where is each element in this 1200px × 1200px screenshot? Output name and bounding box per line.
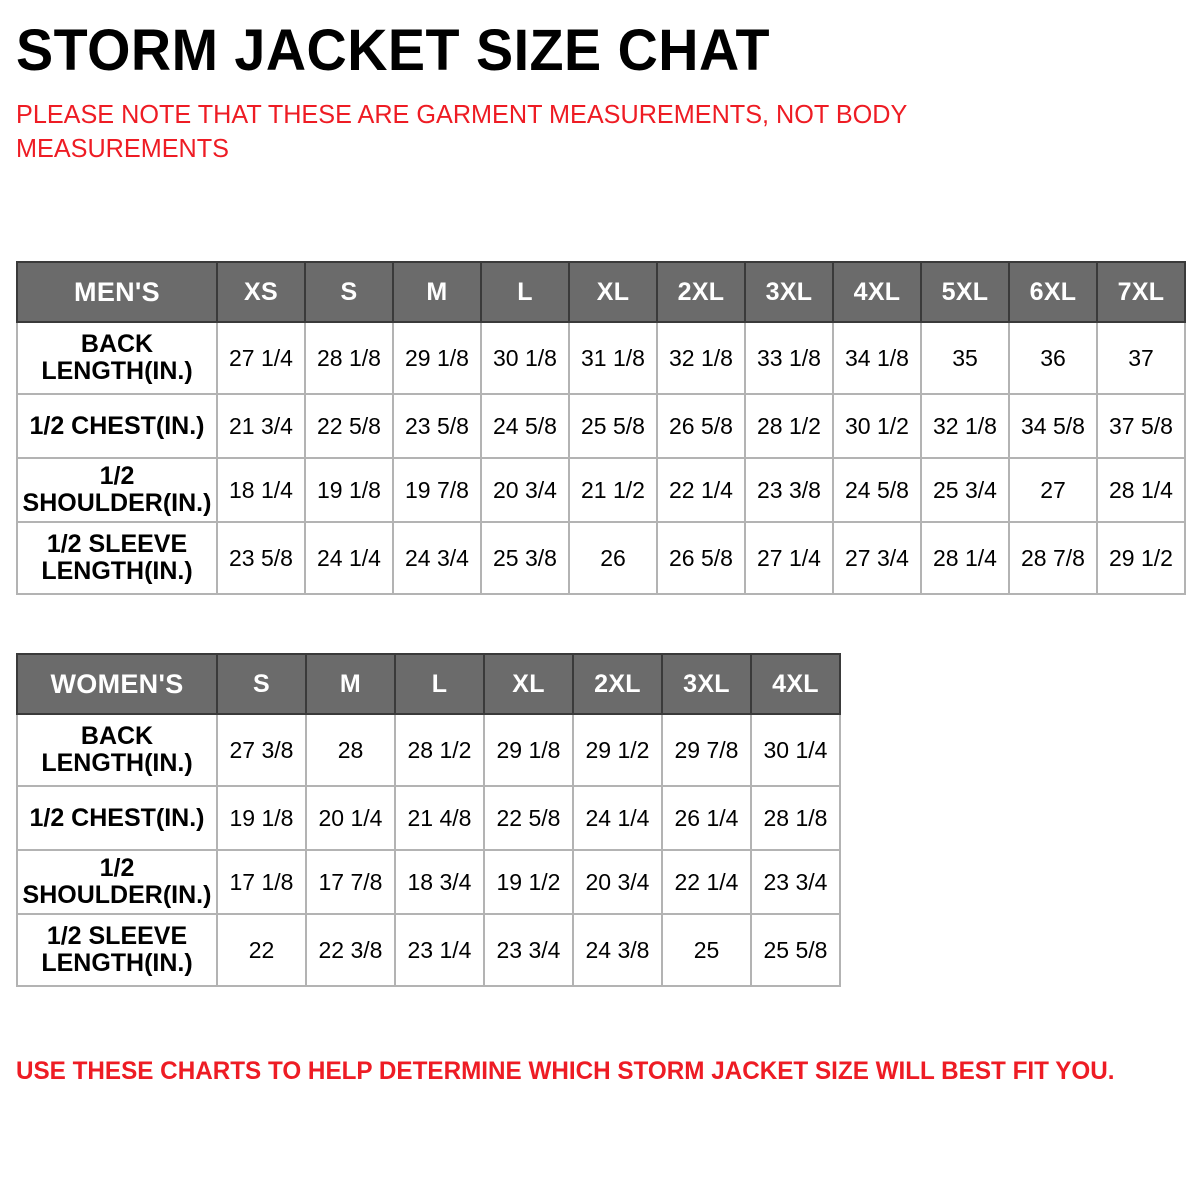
label-line-2: LENGTH(IN.) [41,949,192,977]
fit-guidance-note: USE THESE CHARTS TO HELP DETERMINE WHICH… [16,1056,1115,1086]
cell-mens-shoulder-5xl: 25 3/4 [921,458,1009,522]
cell-mens-sleeve-2xl: 26 5/8 [657,522,745,594]
cell-mens-shoulder-m: 19 7/8 [393,458,481,522]
cell-mens-sleeve-5xl: 28 1/4 [921,522,1009,594]
label-line-2: LENGTH(IN.) [41,357,192,385]
womens-row-label-back-length: BACK LENGTH(IN.) [17,714,217,786]
page-title: STORM JACKET SIZE CHAT [16,0,1137,80]
cell-mens-chest-l: 24 5/8 [481,394,569,458]
label-line-2: LENGTH(IN.) [41,557,192,585]
mens-size-header-7xl: 7XL [1097,262,1185,322]
cell-womens-back-length-s: 27 3/8 [217,714,306,786]
label-line-1: BACK [81,722,153,750]
cell-mens-chest-2xl: 26 5/8 [657,394,745,458]
cell-mens-sleeve-xs: 23 5/8 [217,522,305,594]
mens-row-label-back-length: BACK LENGTH(IN.) [17,322,217,394]
womens-size-header-m: M [306,654,395,714]
mens-row-label-shoulder: 1/2 SHOULDER(IN.) [17,458,217,522]
cell-mens-back-length-l: 30 1/8 [481,322,569,394]
mens-row-label-sleeve-length: 1/2 SLEEVE LENGTH(IN.) [17,522,217,594]
table-row: BACK LENGTH(IN.) 27 1/4 28 1/8 29 1/8 30… [17,322,1185,394]
cell-womens-back-length-2xl: 29 1/2 [573,714,662,786]
cell-mens-chest-s: 22 5/8 [305,394,393,458]
cell-mens-sleeve-7xl: 29 1/2 [1097,522,1185,594]
womens-size-header-l: L [395,654,484,714]
cell-womens-shoulder-2xl: 20 3/4 [573,850,662,914]
table-row: 1/2 SHOULDER(IN.) 18 1/4 19 1/8 19 7/8 2… [17,458,1185,522]
cell-mens-chest-xs: 21 3/4 [217,394,305,458]
table-row: 1/2 SLEEVE LENGTH(IN.) 23 5/8 24 1/4 24 … [17,522,1185,594]
mens-size-header-3xl: 3XL [745,262,833,322]
cell-mens-sleeve-xl: 26 [569,522,657,594]
cell-womens-back-length-m: 28 [306,714,395,786]
cell-mens-sleeve-3xl: 27 1/4 [745,522,833,594]
mens-size-header-6xl: 6XL [1009,262,1097,322]
cell-womens-back-length-3xl: 29 7/8 [662,714,751,786]
mens-table-body: BACK LENGTH(IN.) 27 1/4 28 1/8 29 1/8 30… [17,322,1185,594]
cell-womens-chest-s: 19 1/8 [217,786,306,850]
cell-womens-chest-4xl: 28 1/8 [751,786,840,850]
cell-womens-back-length-l: 28 1/2 [395,714,484,786]
womens-row-label-sleeve-length: 1/2 SLEEVE LENGTH(IN.) [17,914,217,986]
cell-mens-sleeve-l: 25 3/8 [481,522,569,594]
womens-table-body: BACK LENGTH(IN.) 27 3/8 28 28 1/2 29 1/8… [17,714,840,986]
mens-header-row: MEN'S XS S M L XL 2XL 3XL 4XL 5XL 6XL 7X… [17,262,1185,322]
label-line-1: 1/2 SLEEVE [47,922,187,950]
cell-mens-back-length-xs: 27 1/4 [217,322,305,394]
cell-womens-back-length-xl: 29 1/8 [484,714,573,786]
womens-size-header-4xl: 4XL [751,654,840,714]
mens-size-table: MEN'S XS S M L XL 2XL 3XL 4XL 5XL 6XL 7X… [16,261,1186,595]
cell-womens-chest-xl: 22 5/8 [484,786,573,850]
womens-size-header-2xl: 2XL [573,654,662,714]
garment-measurement-note: PLEASE NOTE THAT THESE ARE GARMENT MEASU… [16,80,947,166]
table-row: 1/2 SLEEVE LENGTH(IN.) 22 22 3/8 23 1/4 … [17,914,840,986]
cell-womens-shoulder-s: 17 1/8 [217,850,306,914]
mens-size-header-xl: XL [569,262,657,322]
mens-size-header-5xl: 5XL [921,262,1009,322]
womens-row-label-chest: 1/2 CHEST(IN.) [17,786,217,850]
womens-size-table: WOMEN'S S M L XL 2XL 3XL 4XL BACK LENGTH… [16,653,841,987]
cell-mens-back-length-7xl: 37 [1097,322,1185,394]
table-row: BACK LENGTH(IN.) 27 3/8 28 28 1/2 29 1/8… [17,714,840,786]
cell-womens-chest-3xl: 26 1/4 [662,786,751,850]
cell-mens-back-length-5xl: 35 [921,322,1009,394]
cell-mens-back-length-m: 29 1/8 [393,322,481,394]
cell-womens-back-length-4xl: 30 1/4 [751,714,840,786]
table-row: 1/2 CHEST(IN.) 19 1/8 20 1/4 21 4/8 22 5… [17,786,840,850]
cell-mens-shoulder-l: 20 3/4 [481,458,569,522]
cell-mens-back-length-xl: 31 1/8 [569,322,657,394]
womens-size-header-3xl: 3XL [662,654,751,714]
cell-womens-sleeve-s: 22 [217,914,306,986]
womens-size-header-xl: XL [484,654,573,714]
mens-size-header-4xl: 4XL [833,262,921,322]
womens-row-label-shoulder: 1/2 SHOULDER(IN.) [17,850,217,914]
cell-womens-shoulder-xl: 19 1/2 [484,850,573,914]
cell-mens-chest-4xl: 30 1/2 [833,394,921,458]
cell-womens-sleeve-3xl: 25 [662,914,751,986]
size-chart-page: STORM JACKET SIZE CHAT PLEASE NOTE THAT … [0,0,1200,1200]
mens-size-header-m: M [393,262,481,322]
cell-womens-shoulder-l: 18 3/4 [395,850,484,914]
cell-mens-back-length-s: 28 1/8 [305,322,393,394]
cell-mens-shoulder-4xl: 24 5/8 [833,458,921,522]
mens-size-header-2xl: 2XL [657,262,745,322]
cell-mens-chest-6xl: 34 5/8 [1009,394,1097,458]
cell-womens-chest-2xl: 24 1/4 [573,786,662,850]
cell-womens-chest-l: 21 4/8 [395,786,484,850]
womens-header-row: WOMEN'S S M L XL 2XL 3XL 4XL [17,654,840,714]
table-row: 1/2 SHOULDER(IN.) 17 1/8 17 7/8 18 3/4 1… [17,850,840,914]
cell-mens-chest-m: 23 5/8 [393,394,481,458]
label-line-1: 1/2 SLEEVE [47,530,187,558]
cell-womens-shoulder-4xl: 23 3/4 [751,850,840,914]
cell-womens-shoulder-3xl: 22 1/4 [662,850,751,914]
cell-mens-sleeve-6xl: 28 7/8 [1009,522,1097,594]
cell-mens-shoulder-xl: 21 1/2 [569,458,657,522]
cell-mens-back-length-6xl: 36 [1009,322,1097,394]
cell-mens-shoulder-2xl: 22 1/4 [657,458,745,522]
label-line-1: BACK [81,330,153,358]
cell-mens-shoulder-s: 19 1/8 [305,458,393,522]
cell-womens-sleeve-4xl: 25 5/8 [751,914,840,986]
cell-mens-sleeve-s: 24 1/4 [305,522,393,594]
cell-mens-shoulder-xs: 18 1/4 [217,458,305,522]
cell-mens-chest-5xl: 32 1/8 [921,394,1009,458]
cell-mens-chest-7xl: 37 5/8 [1097,394,1185,458]
table-row: 1/2 CHEST(IN.) 21 3/4 22 5/8 23 5/8 24 5… [17,394,1185,458]
cell-mens-back-length-3xl: 33 1/8 [745,322,833,394]
cell-womens-chest-m: 20 1/4 [306,786,395,850]
cell-womens-sleeve-xl: 23 3/4 [484,914,573,986]
mens-table-header: MEN'S XS S M L XL 2XL 3XL 4XL 5XL 6XL 7X… [17,262,1185,322]
mens-row-label-chest: 1/2 CHEST(IN.) [17,394,217,458]
mens-size-header-xs: XS [217,262,305,322]
womens-corner-label: WOMEN'S [17,654,217,714]
cell-mens-chest-xl: 25 5/8 [569,394,657,458]
womens-table-header: WOMEN'S S M L XL 2XL 3XL 4XL [17,654,840,714]
mens-size-header-l: L [481,262,569,322]
cell-mens-shoulder-3xl: 23 3/8 [745,458,833,522]
cell-womens-sleeve-m: 22 3/8 [306,914,395,986]
womens-size-header-s: S [217,654,306,714]
cell-mens-shoulder-6xl: 27 [1009,458,1097,522]
cell-mens-back-length-2xl: 32 1/8 [657,322,745,394]
cell-mens-back-length-4xl: 34 1/8 [833,322,921,394]
cell-mens-sleeve-m: 24 3/4 [393,522,481,594]
cell-womens-sleeve-l: 23 1/4 [395,914,484,986]
mens-corner-label: MEN'S [17,262,217,322]
cell-mens-shoulder-7xl: 28 1/4 [1097,458,1185,522]
cell-womens-sleeve-2xl: 24 3/8 [573,914,662,986]
mens-size-header-s: S [305,262,393,322]
label-line-2: LENGTH(IN.) [41,749,192,777]
cell-mens-sleeve-4xl: 27 3/4 [833,522,921,594]
cell-womens-shoulder-m: 17 7/8 [306,850,395,914]
cell-mens-chest-3xl: 28 1/2 [745,394,833,458]
